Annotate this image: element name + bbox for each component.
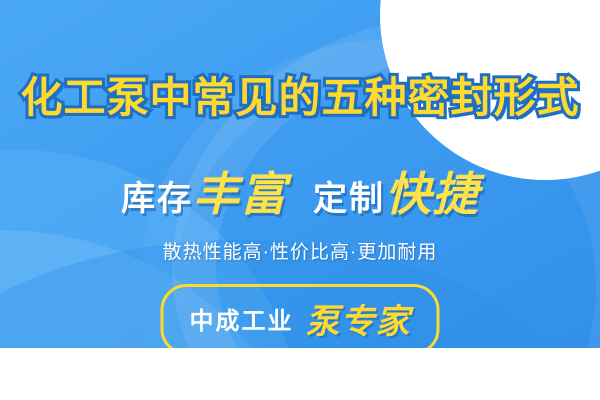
subline-emphasis-1: 丰富 <box>193 168 287 220</box>
badge-expert-label: 泵专家 <box>306 294 411 343</box>
subline-part-2: 定制 <box>313 180 385 218</box>
banner-description: 散热性能高·性价比高·更加耐用 <box>0 237 600 264</box>
brand-badge: 中成工业 泵专家 <box>161 284 440 355</box>
banner-subline: 库存丰富定制快捷 <box>0 158 600 224</box>
subline-emphasis-2: 快捷 <box>385 168 479 220</box>
bottom-white-strip <box>0 348 600 400</box>
promo-banner: 化工泵中常见的五种密封形式 库存丰富定制快捷 散热性能高·性价比高·更加耐用 中… <box>0 0 600 400</box>
banner-headline: 化工泵中常见的五种密封形式 <box>0 64 600 125</box>
banner-content: 化工泵中常见的五种密封形式 库存丰富定制快捷 散热性能高·性价比高·更加耐用 中… <box>0 0 600 400</box>
badge-brand-name: 中成工业 <box>190 301 294 336</box>
subline-part-1: 库存 <box>121 180 193 218</box>
